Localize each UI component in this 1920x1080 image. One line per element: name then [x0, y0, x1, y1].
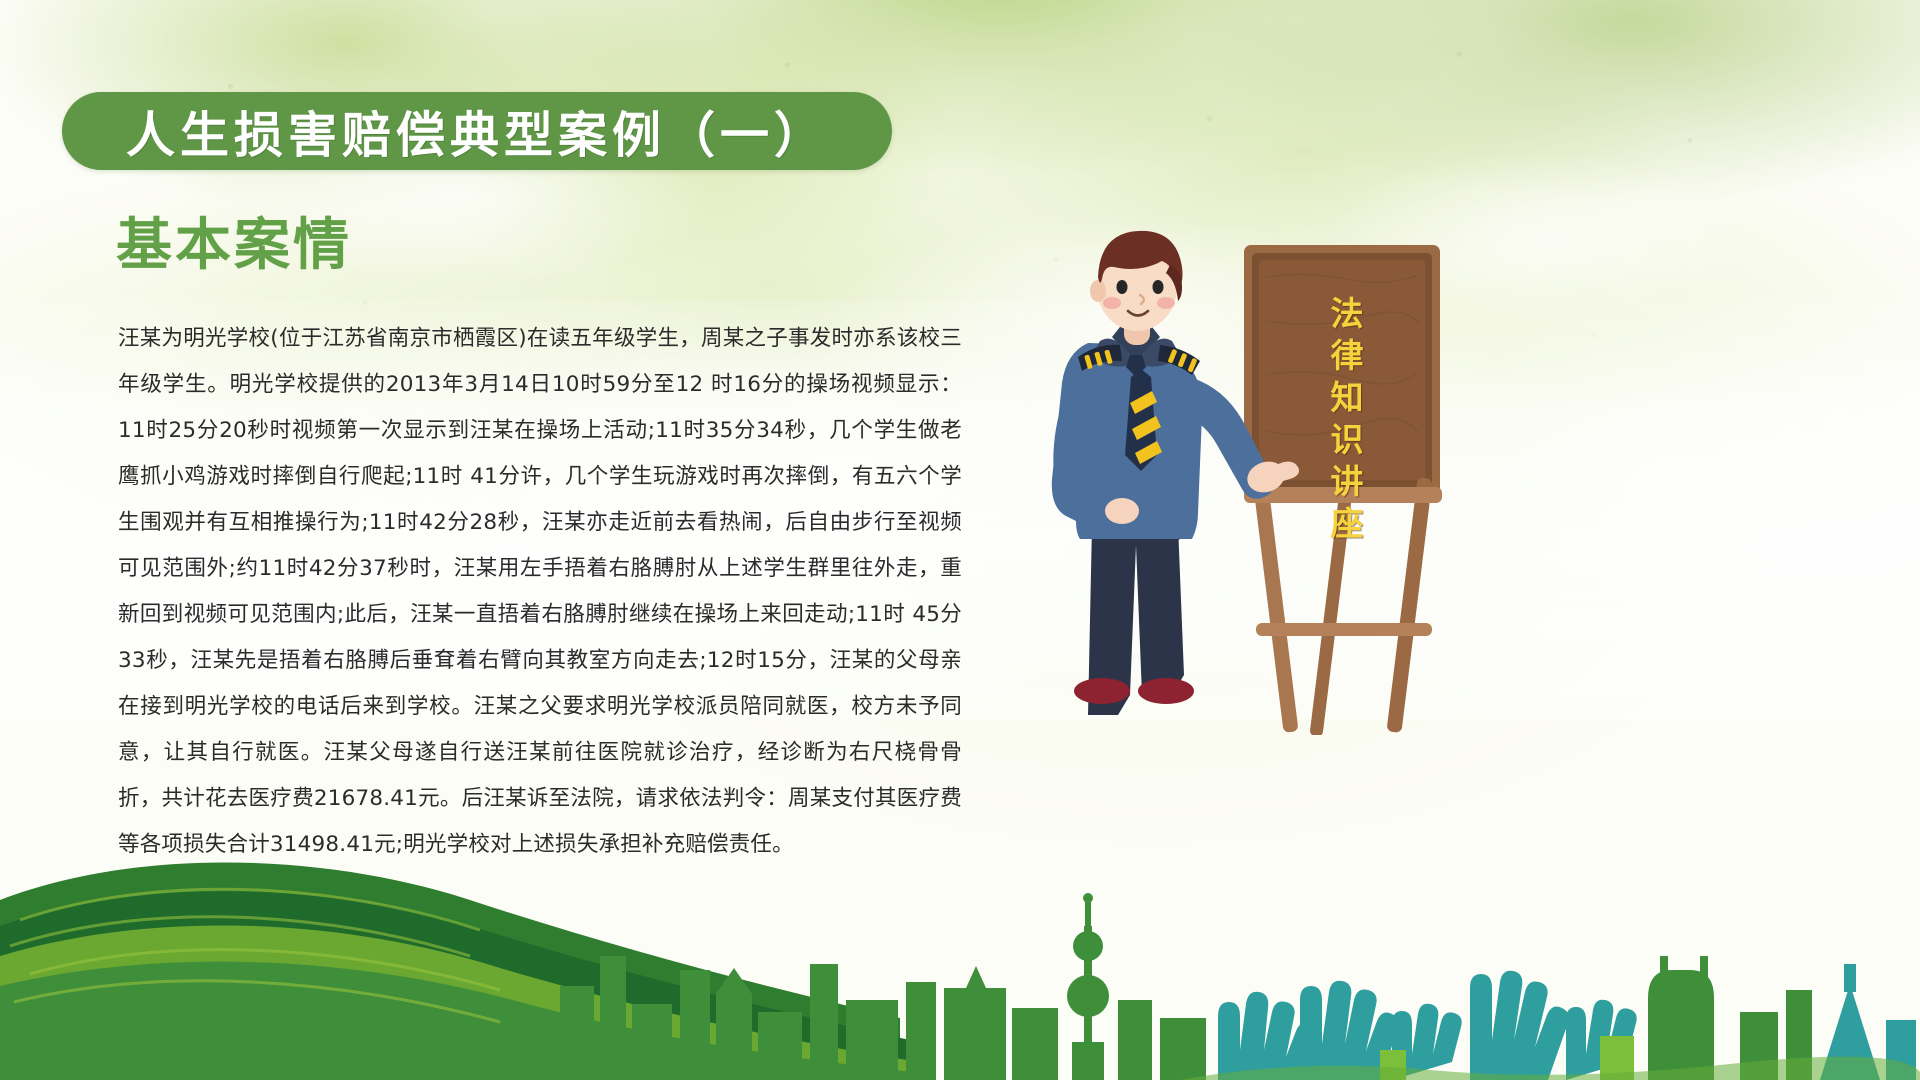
bottom-decoration — [0, 750, 1920, 1080]
title-banner-label: 人生损害赔偿典型案例（一） — [126, 96, 828, 167]
title-banner: 人生损害赔偿典型案例（一） — [62, 92, 892, 170]
slide-canvas: 人生损害赔偿典型案例（一） 基本案情 汪某为明光学校(位于江苏省南京市栖霞区)在… — [0, 0, 1920, 1080]
section-heading: 基本案情 — [116, 200, 352, 281]
easel-board-text: 法律知识讲座 — [1310, 296, 1368, 548]
crowd-silhouette — [1218, 971, 1637, 1080]
illustration-lecturer-with-easel — [1030, 225, 1500, 735]
